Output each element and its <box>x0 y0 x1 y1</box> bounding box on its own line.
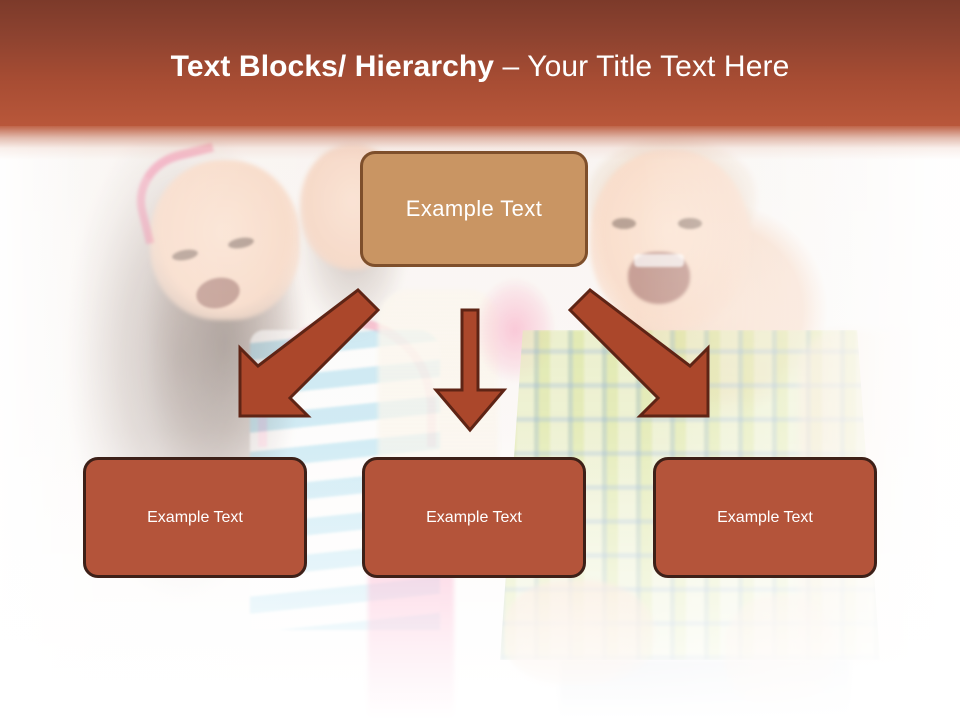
page-title-regular: – Your Title Text Here <box>503 50 790 83</box>
photo-boy-hand-right <box>725 595 835 710</box>
photo-boy-face <box>590 150 750 330</box>
hierarchy-child-node-3[interactable]: Example Text <box>653 457 877 578</box>
photo-boy-eye-left <box>612 218 636 229</box>
hierarchy-child-node-3-label: Example Text <box>717 509 813 527</box>
hierarchy-top-node-label: Example Text <box>406 196 542 222</box>
photo-boy-hand-left <box>505 580 655 685</box>
hierarchy-child-node-1-label: Example Text <box>147 509 243 527</box>
photo-girl-middle-pink-leggings <box>368 560 454 720</box>
hierarchy-child-node-1[interactable]: Example Text <box>83 457 307 578</box>
hierarchy-child-node-2-label: Example Text <box>426 509 522 527</box>
page-title-bold: Text Blocks/ Hierarchy <box>171 50 503 83</box>
hierarchy-child-node-2[interactable]: Example Text <box>362 457 586 578</box>
photo-boy-eye-right <box>678 218 702 229</box>
photo-boy-teeth <box>634 254 684 267</box>
hierarchy-top-node[interactable]: Example Text <box>360 151 588 267</box>
page-title: Text Blocks/ Hierarchy – Your Title Text… <box>0 50 960 84</box>
slide-canvas: Text Blocks/ Hierarchy – Your Title Text… <box>0 0 960 720</box>
